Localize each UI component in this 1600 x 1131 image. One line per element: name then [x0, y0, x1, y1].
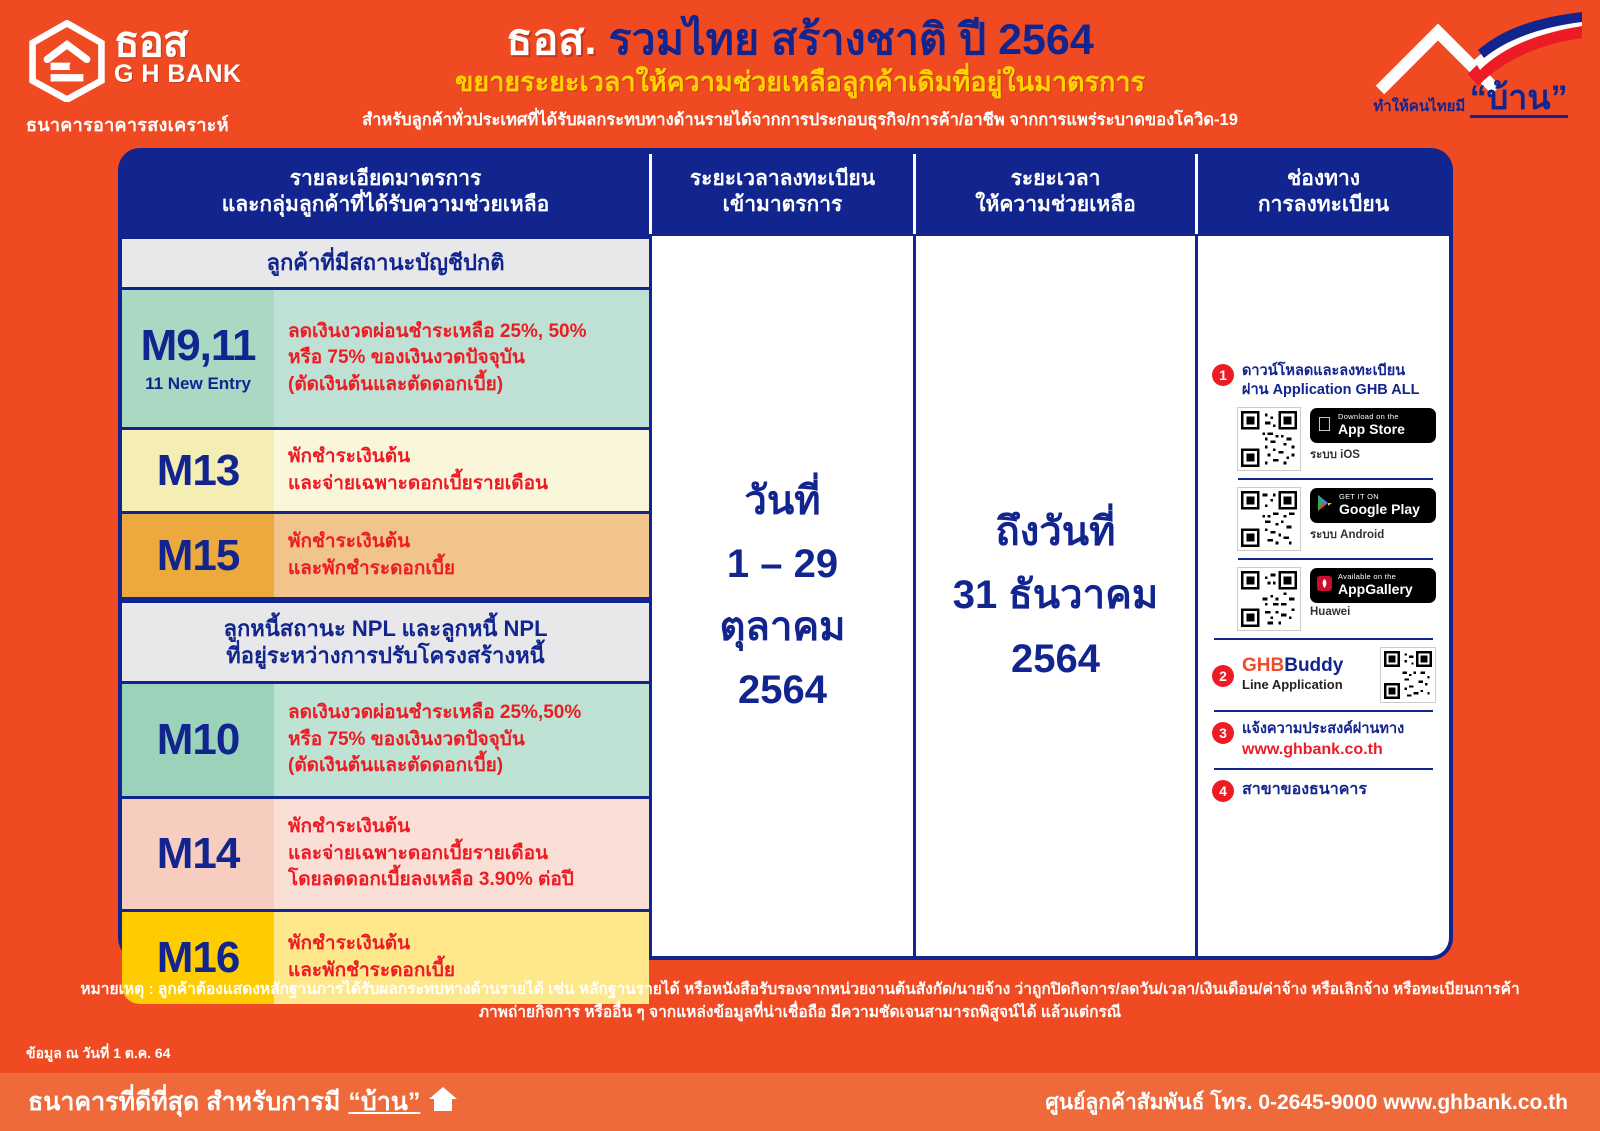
section-band-normal-label: ลูกค้าที่มีสถานะบัญชีปกติ — [266, 249, 504, 277]
measure-code: M9,11 — [141, 324, 256, 368]
app-store-badge[interactable]:  Download on the App Store — [1310, 408, 1436, 443]
header: ธอส G H BANK ธนาคารอาคารสงเคราะห์ ธอส. ร… — [0, 0, 1600, 145]
measure-desc-line: และจ่ายเฉพาะดอกเบี้ยรายเดือน — [288, 471, 639, 498]
channel-item-2: 2 GHBBuddy Line Application — [1212, 648, 1435, 702]
slogan-small-text: ทำให้คนไทยมี — [1373, 94, 1465, 118]
register-period-line: ตุลาคม — [719, 596, 845, 659]
measure-code: M14 — [157, 832, 240, 876]
col1-line2: เข้ามาตรการ — [690, 192, 875, 218]
table-row: M13 พักชำระเงินต้น และจ่ายเฉพาะดอกเบี้ยร… — [122, 430, 649, 514]
title-block: ธอส. รวมไทย สร้างชาติ ปี 2564 ขยายระยะเว… — [360, 16, 1240, 133]
col0-line2: และกลุ่มลูกค้าที่ได้รับความช่วยเหลือ — [222, 192, 550, 218]
measure-desc-cell: ลดเงินงวดผ่อนชำระเหลือ 25%,50% หรือ 75% … — [274, 684, 649, 796]
measure-desc-line: (ตัดเงินต้นและตัดดอกเบี้ย) — [288, 372, 639, 399]
header-divider-1 — [649, 154, 652, 234]
measure-details-column: ลูกค้าที่มีสถานะบัญชีปกติ M9,11 11 New E… — [122, 236, 649, 956]
measure-desc-line: หรือ 75% ของเงินงวดปัจจุบัน — [288, 727, 639, 754]
contact-info: ศูนย์ลูกค้าสัมพันธ์ โทร. 0-2645-9000 www… — [1045, 1086, 1568, 1119]
appgallery-badge[interactable]: Available on the AppGallery — [1310, 568, 1436, 603]
store-row-android: GET IT ON Google Play ระบบ Android — [1238, 488, 1435, 550]
bottom-slogan-quote: “บ้าน” — [348, 1082, 420, 1122]
title-blue-part: รวมไทย สร้างชาติ ปี 2564 — [608, 16, 1093, 64]
divider — [1238, 478, 1433, 480]
help-period-line: ถึงวันที่ — [953, 501, 1158, 564]
channel-1-title-line2: ผ่าน Application GHB ALL — [1242, 381, 1419, 400]
measure-desc-line: ลดเงินงวดผ่อนชำระเหลือ 25%,50% — [288, 700, 639, 727]
table-row: M14 พักชำระเงินต้น และจ่ายเฉพาะดอกเบี้ยร… — [122, 799, 649, 912]
ghbank-logo: ธอส G H BANK ธนาคารอาคารสงเคราะห์ — [22, 18, 352, 136]
store-caption-huawei: Huawei — [1310, 606, 1436, 618]
buddy-brand-part: Buddy — [1284, 655, 1343, 676]
apple-icon:  — [1317, 415, 1332, 435]
section-band-npl: ลูกหนี้สถานะ NPL และลูกหนี้ NPL ที่อยู่ร… — [122, 600, 649, 684]
brand-slogan-block: ทำให้คนไทยมี “บ้าน” — [1350, 12, 1586, 132]
register-period-value: วันที่ 1 – 29 ตุลาคม 2564 — [719, 470, 845, 723]
measure-code: M15 — [157, 534, 240, 578]
bottom-bar-slogan: ธนาคารที่ดีที่สุด สำหรับการมี “บ้าน” — [28, 1082, 458, 1122]
channel-4-title: สาขาของธนาคาร — [1242, 780, 1367, 801]
channel-2-subtitle: Line Application — [1242, 677, 1373, 693]
divider — [1214, 710, 1433, 712]
store-row-huawei: Available on the AppGallery Huawei — [1238, 568, 1435, 630]
col0-line1: รายละเอียดมาตรการ — [222, 166, 550, 192]
as-of-date: ข้อมูล ณ วันที่ 1 ต.ค. 64 — [26, 1043, 170, 1065]
bottom-slogan-text: ธนาคารที่ดีที่สุด สำหรับการมี — [28, 1082, 340, 1122]
bottom-bar: ธนาคารที่ดีที่สุด สำหรับการมี “บ้าน” ศูน… — [0, 1073, 1600, 1131]
measures-table-panel: รายละเอียดมาตรการ และกลุ่มลูกค้าที่ได้รั… — [118, 148, 1453, 960]
col3-line1: ช่องทาง — [1258, 166, 1389, 192]
section-band-npl-line1: ลูกหนี้สถานะ NPL และลูกหนี้ NPL — [223, 615, 547, 643]
header-divider-3 — [1195, 154, 1198, 234]
page-title: ธอส. รวมไทย สร้างชาติ ปี 2564 — [360, 16, 1240, 64]
table-row: M15 พักชำระเงินต้น และพักชำระดอกเบี้ย — [122, 514, 649, 600]
register-period-line: 2564 — [719, 659, 845, 722]
col2-line2: ให้ความช่วยเหลือ — [975, 192, 1135, 218]
footnote-line-2: ภาพถ่ายกิจการ หรืออื่น ๆ จากแหล่งข้อมูลท… — [0, 1001, 1600, 1024]
channel-1-title-line1: ดาวน์โหลดและลงทะเบียน — [1242, 362, 1419, 381]
channel-number-badge: 1 — [1212, 364, 1234, 386]
qr-ios-icon[interactable] — [1238, 408, 1300, 470]
measure-desc-line: และพักชำระดอกเบี้ย — [288, 556, 639, 583]
measure-desc-cell: พักชำระเงินต้น และพักชำระดอกเบี้ย — [274, 514, 649, 597]
measure-code-sub: 11 New Entry — [145, 374, 251, 394]
register-period-line: 1 – 29 — [719, 533, 845, 596]
channel-item-4: 4 สาขาของธนาคาร — [1212, 778, 1435, 802]
col3-line2: การลงทะเบียน — [1258, 192, 1389, 218]
channel-number-badge: 3 — [1212, 722, 1234, 744]
measure-code-cell: M9,11 11 New Entry — [122, 290, 274, 427]
channel-item-1: 1 ดาวน์โหลดและลงทะเบียน ผ่าน Application… — [1212, 362, 1435, 400]
section-band-normal: ลูกค้าที่มีสถานะบัญชีปกติ — [122, 236, 649, 290]
help-period-line: 31 ธันวาคม — [953, 564, 1158, 627]
help-period-column: ถึงวันที่ 31 ธันวาคม 2564 — [916, 236, 1195, 956]
header-divider-2 — [913, 154, 916, 234]
measure-desc-cell: ลดเงินงวดผ่อนชำระเหลือ 25%, 50% หรือ 75%… — [274, 290, 649, 427]
brand-slogan: ทำให้คนไทยมี “บ้าน” — [1358, 81, 1583, 118]
store-caption-android: ระบบ Android — [1310, 526, 1436, 544]
ghb-brand-part: GHB — [1242, 655, 1284, 676]
help-period-value: ถึงวันที่ 31 ธันวาคม 2564 — [953, 501, 1158, 691]
table-row: M9,11 11 New Entry ลดเงินงวดผ่อนชำระเหลื… — [122, 290, 649, 430]
badge-big-text: AppGallery — [1338, 582, 1413, 597]
qr-huawei-icon[interactable] — [1238, 568, 1300, 630]
badge-big-text: App Store — [1338, 422, 1405, 437]
measure-desc-line: พักชำระเงินต้น — [288, 814, 639, 841]
google-play-icon — [1317, 494, 1333, 516]
measure-code: M16 — [157, 936, 240, 980]
measure-desc-line: (ตัดเงินต้นและตัดดอกเบี้ย) — [288, 753, 639, 780]
logo-english-name: G H BANK — [114, 62, 242, 87]
measure-code-cell: M10 — [122, 684, 274, 796]
ghbank-house-logo — [26, 20, 108, 102]
measure-code-cell: M15 — [122, 514, 274, 597]
google-play-badge[interactable]: GET IT ON Google Play — [1310, 488, 1436, 523]
ghb-buddy-brand: GHBBuddy — [1242, 656, 1373, 677]
col1-line1: ระยะเวลาลงทะเบียน — [690, 166, 875, 192]
measure-desc-line: ลดเงินงวดผ่อนชำระเหลือ 25%, 50% — [288, 319, 639, 346]
register-period-column: วันที่ 1 – 29 ตุลาคม 2564 — [652, 236, 913, 956]
divider — [1214, 768, 1433, 770]
divider — [1214, 638, 1433, 640]
measure-desc-line: และจ่ายเฉพาะดอกเบี้ยรายเดือน — [288, 841, 639, 868]
channel-number-badge: 4 — [1212, 780, 1234, 802]
measure-desc-line: โดยลดดอกเบี้ยลงเหลือ 3.90% ต่อปี — [288, 867, 639, 894]
qr-android-icon[interactable] — [1238, 488, 1300, 550]
channel-3-title: แจ้งความประสงค์ผ่านทาง — [1242, 720, 1404, 739]
slogan-big-text: “บ้าน” — [1470, 81, 1568, 118]
channel-item-3: 3 แจ้งความประสงค์ผ่านทาง www.ghbank.co.t… — [1212, 720, 1435, 761]
page-subtitle: ขยายระยะเวลาให้ความช่วยเหลือลูกค้าเดิมที… — [360, 66, 1240, 98]
qr-line-icon[interactable] — [1381, 648, 1435, 702]
measure-code: M10 — [157, 718, 240, 762]
store-caption-ios: ระบบ iOS — [1310, 446, 1436, 464]
column-header-channels: ช่องทาง การลงทะเบียน — [1198, 148, 1449, 236]
section-band-npl-line2: ที่อยู่ระหว่างการปรับโครงสร้างหนี้ — [226, 642, 544, 670]
measure-desc-cell: พักชำระเงินต้น และจ่ายเฉพาะดอกเบี้ยรายเด… — [274, 799, 649, 909]
store-row-ios:  Download on the App Store ระบบ iOS — [1238, 408, 1435, 470]
register-period-line: วันที่ — [719, 470, 845, 533]
registration-channels-column: 1 ดาวน์โหลดและลงทะเบียน ผ่าน Application… — [1198, 236, 1449, 956]
help-period-line: 2564 — [953, 628, 1158, 691]
measure-code-cell: M14 — [122, 799, 274, 909]
channel-3-url-link[interactable]: www.ghbank.co.th — [1242, 740, 1404, 761]
measure-desc-line: พักชำระเงินต้น — [288, 529, 639, 556]
measure-desc-line: หรือ 75% ของเงินงวดปัจจุบัน — [288, 345, 639, 372]
column-header-register-period: ระยะเวลาลงทะเบียน เข้ามาตรการ — [652, 148, 913, 236]
divider — [1238, 558, 1433, 560]
measure-desc-line: พักชำระเงินต้น — [288, 444, 639, 471]
footnote: หมายเหตุ : ลูกค้าต้องแสดงหลักฐานการได้รั… — [0, 978, 1600, 1025]
logo-subtitle: ธนาคารอาคารสงเคราะห์ — [26, 110, 229, 139]
table-row: M10 ลดเงินงวดผ่อนชำระเหลือ 25%,50% หรือ … — [122, 684, 649, 799]
col2-line1: ระยะเวลา — [975, 166, 1135, 192]
huawei-icon — [1317, 575, 1332, 595]
channel-number-badge: 2 — [1212, 665, 1234, 687]
page-note: สำหรับลูกค้าทั่วประเทศที่ได้รับผลกระทบทา… — [360, 107, 1240, 133]
column-header-help-period: ระยะเวลา ให้ความช่วยเหลือ — [916, 148, 1195, 236]
measure-desc-cell: พักชำระเงินต้น และจ่ายเฉพาะดอกเบี้ยรายเด… — [274, 430, 649, 511]
measure-code-cell: M13 — [122, 430, 274, 511]
home-icon — [428, 1085, 458, 1120]
column-header-details: รายละเอียดมาตรการ และกลุ่มลูกค้าที่ได้รั… — [122, 148, 649, 236]
badge-big-text: Google Play — [1339, 502, 1420, 517]
footnote-line-1: หมายเหตุ : ลูกค้าต้องแสดงหลักฐานการได้รั… — [0, 978, 1600, 1001]
title-white-part: ธอส. — [506, 16, 596, 64]
measure-desc-line: พักชำระเงินต้น — [288, 931, 639, 958]
logo-thai-name: ธอส — [114, 22, 242, 62]
measure-code: M13 — [157, 449, 240, 493]
